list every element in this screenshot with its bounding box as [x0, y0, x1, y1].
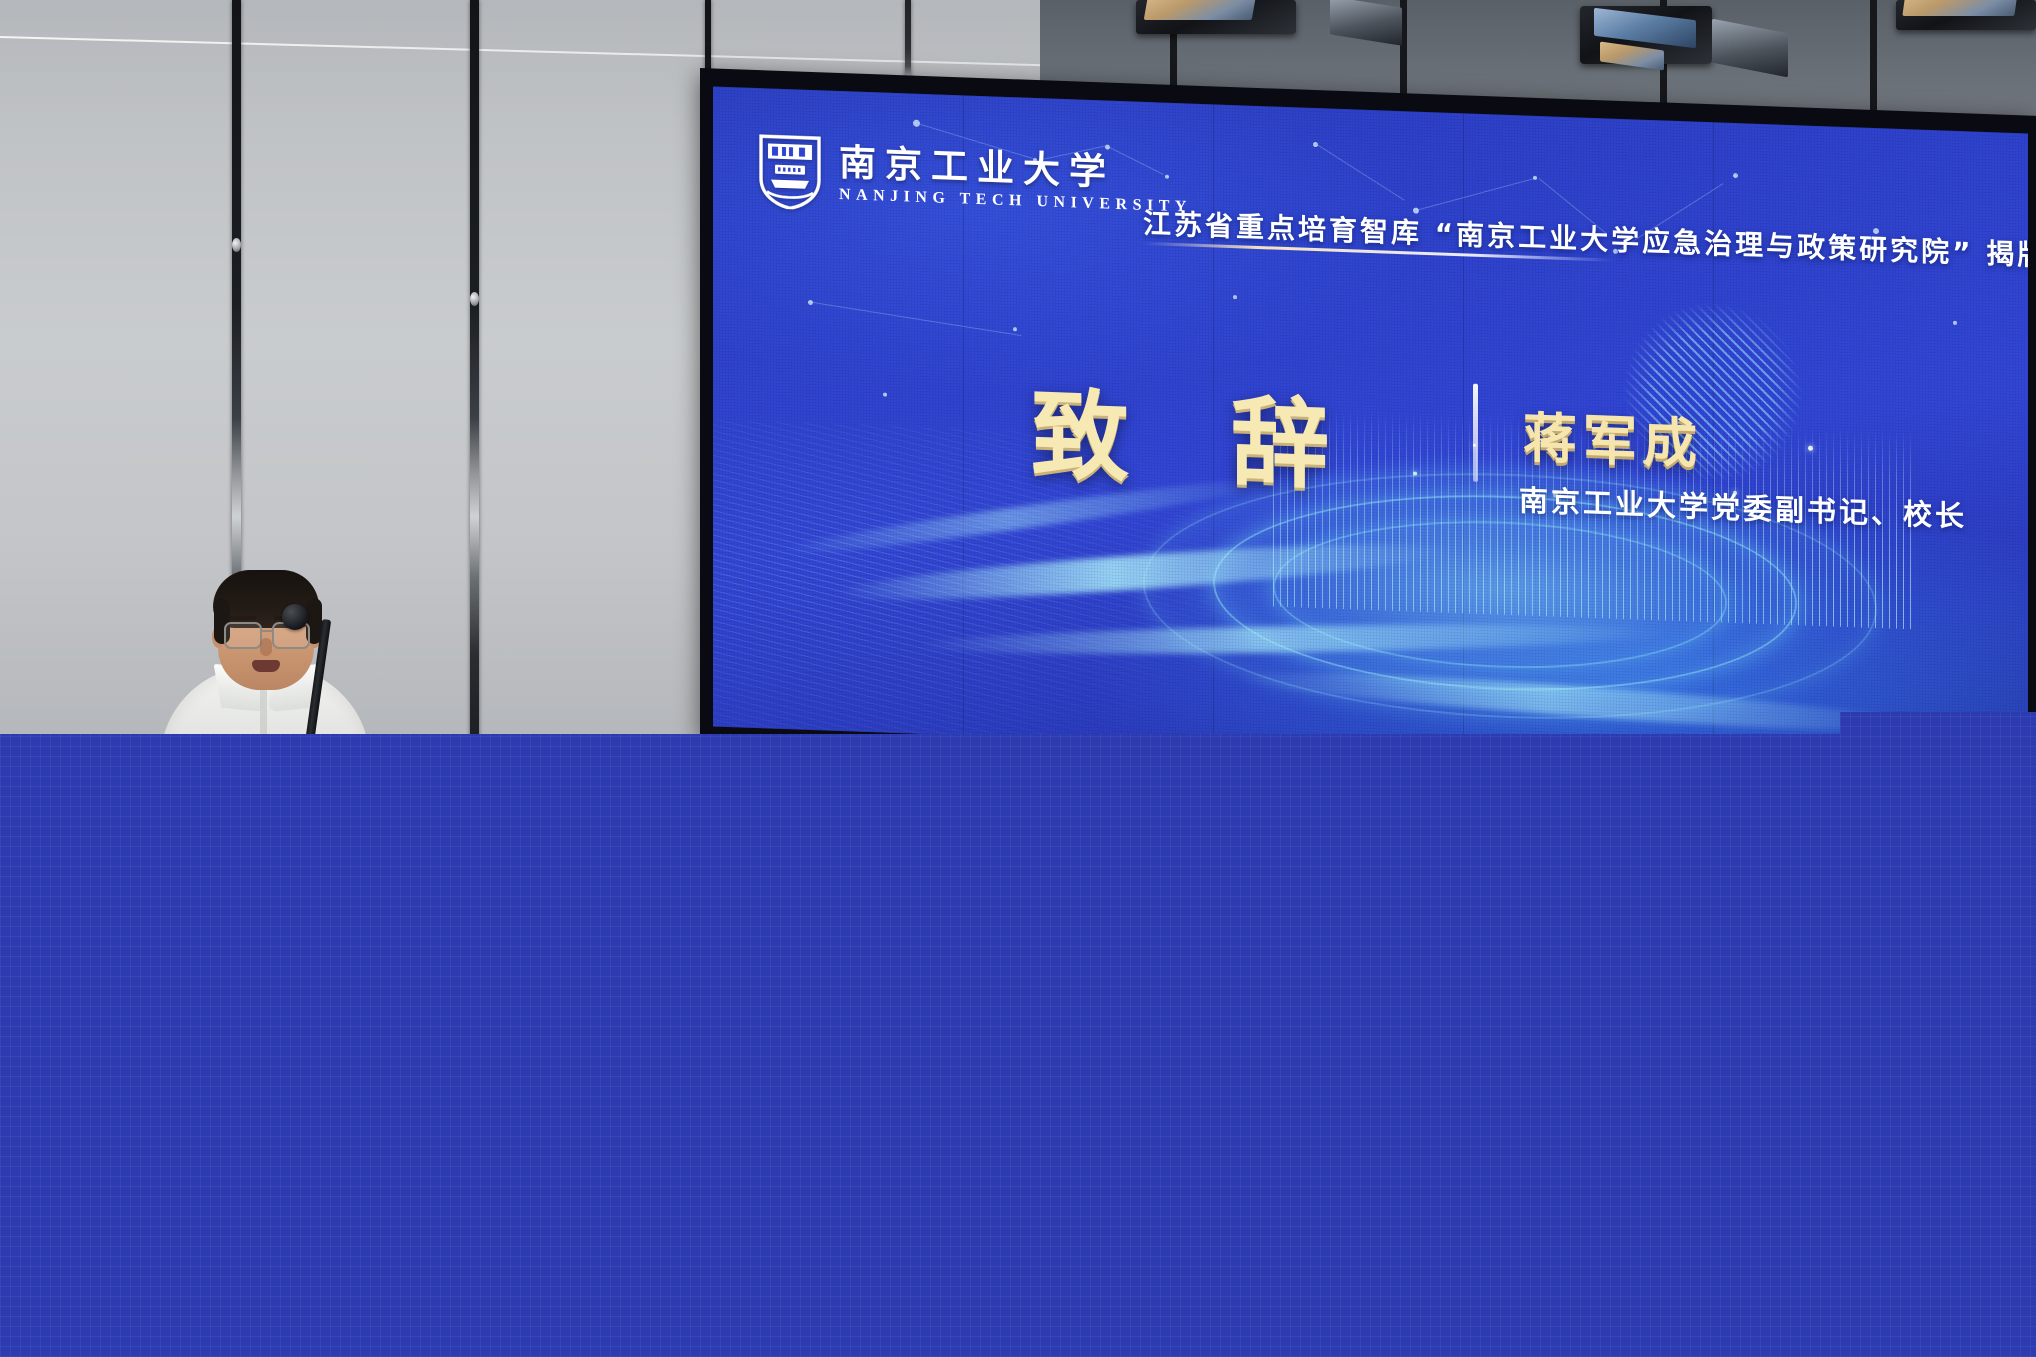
- wall-panel-seam: [470, 0, 479, 760]
- eyeglasses-icon: [224, 622, 262, 649]
- presenter-brow-left: [228, 616, 256, 620]
- led-screen-bezel: 南京工业大学 NANJING TECH UNIVERSITY 江苏省重点培育智库…: [700, 68, 2036, 784]
- led-screen: 南京工业大学 NANJING TECH UNIVERSITY 江苏省重点培育智库…: [713, 86, 2028, 773]
- page-title: 致 辞: [1031, 356, 1363, 510]
- network-dot: [1013, 327, 1017, 331]
- seam-screw-icon: [470, 292, 479, 306]
- stage-light-icon: [1580, 6, 1712, 64]
- title-divider: [1473, 384, 1478, 482]
- network-dot: [1953, 321, 1957, 325]
- wall-horizontal-seam: [0, 36, 1200, 70]
- university-logo-block: 南京工业大学 NANJING TECH UNIVERSITY: [759, 134, 1192, 223]
- blue-overlay-right-step: [1840, 712, 2036, 1357]
- network-link: [813, 302, 1022, 336]
- stage-light-barndoor: [1712, 19, 1788, 78]
- eyeglasses-bridge: [260, 630, 272, 632]
- event-banner-text: 江苏省重点培育智库 “南京工业大学应急治理与政策研究院” 揭牌仪式暨报告会: [1143, 202, 2028, 281]
- stage-light-icon: [1136, 0, 1296, 34]
- sparkle: [1808, 446, 1813, 451]
- presenter-mouth: [252, 660, 280, 672]
- nanjing-tech-university-crest-icon: [759, 134, 821, 210]
- stage-light-icon: [1896, 0, 2036, 30]
- stage-light-barndoor: [1330, 0, 1402, 46]
- blue-overlay-main: [0, 734, 1845, 1357]
- network-dot: [883, 393, 887, 397]
- seam-screw-icon: [232, 238, 241, 252]
- truss-bar: [1870, 0, 1877, 118]
- stage-light-lens: [1600, 42, 1664, 71]
- ripple-graphic: [713, 419, 2028, 773]
- network-dot: [1233, 295, 1237, 299]
- stage-light-lens: [1902, 0, 2017, 16]
- network-link: [1417, 178, 1534, 210]
- network-dot: [1733, 173, 1738, 178]
- network-link: [1317, 144, 1405, 201]
- microphone-icon: [282, 604, 308, 630]
- stage-light-lens: [1144, 0, 1257, 20]
- university-name-cn: 南京工业大学: [839, 144, 1192, 194]
- screenshot-root: 南京工业大学 NANJING TECH UNIVERSITY 江苏省重点培育智库…: [0, 0, 2036, 1357]
- presenter-nose: [260, 638, 272, 656]
- speaker-name: 蒋军成: [1523, 393, 1703, 478]
